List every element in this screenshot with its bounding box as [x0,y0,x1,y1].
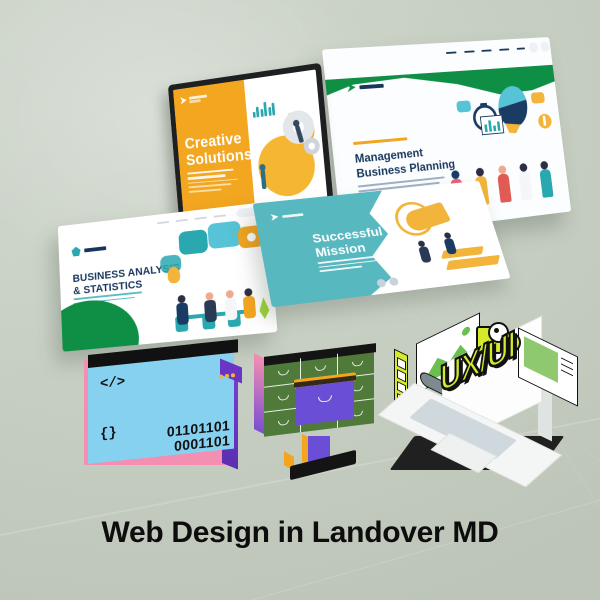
slide-logo [71,243,106,256]
promo-graphic: Management Business Planning [0,0,600,600]
code-brace-icon: {} [100,425,117,443]
uxui-laptop-illustration[interactable]: UX/UI [382,318,572,486]
person-figure [538,161,553,198]
nav-item[interactable] [446,51,457,54]
speech-bubble-icon [207,221,241,250]
nav-item[interactable] [213,214,226,217]
brand-logo [180,93,208,104]
successful-mission-slide[interactable]: Successful Mission [253,181,511,308]
coin-icon [538,113,553,129]
wireframe-line [561,369,573,376]
page-title: Web Design in Landover MD [0,516,600,550]
bar-chart-graphic [251,98,275,118]
nav-menu-icon[interactable] [540,42,550,52]
leaf-shape [258,297,270,320]
nav-item[interactable] [194,217,206,220]
chart-document-icon [480,115,504,136]
person-figure [203,292,217,323]
wireframe-block [524,336,558,383]
person-figure [223,290,237,321]
nav-search-icon[interactable] [529,42,539,52]
speech-bubble-icon [456,100,471,112]
code-window-screen: </> {} 01101101 0001101 [88,349,234,464]
screen-headline: Creative Solutions [184,129,253,169]
drawer-handle[interactable] [352,361,363,367]
screen-right-panel [244,69,328,214]
slide-card: BUSINESS ANALYSIS & STATISTICS [58,202,278,352]
nav-item[interactable] [464,50,475,53]
green-blob-graphic [58,296,141,352]
business-analysis-statistics-slide[interactable]: BUSINESS ANALYSIS & STATISTICS [58,202,278,352]
screen-left-panel: Creative Solutions [173,80,256,219]
code-window-illustration[interactable]: </> {} 01101101 0001101 [88,355,238,465]
slide-logo [347,81,384,92]
monitor-screen: Creative Solutions [173,69,328,219]
binary-text: 01101101 0001101 [167,418,230,455]
person-figure [517,163,532,201]
nav-item[interactable] [175,219,187,222]
drawer-handle[interactable] [315,365,326,371]
slide-illustration [152,216,274,341]
person-figure [416,240,431,263]
drawer-handle[interactable] [278,395,289,401]
screen-illustration [244,69,328,214]
person-figure [496,165,512,203]
nav-item[interactable] [156,221,168,224]
code-tag-icon: </> [100,374,125,393]
person-figure [242,288,256,319]
slide-card: Successful Mission [253,181,511,308]
slide-pagination-dots[interactable] [376,277,399,288]
nav-item[interactable] [482,49,492,52]
nav-item[interactable] [499,48,509,51]
nav-item[interactable] [516,47,525,49]
sun-icon [462,325,470,337]
speech-bubble-icon [179,229,209,255]
screen-subtext [187,168,240,195]
drawer-handle[interactable] [278,420,289,426]
person-figure [176,295,189,326]
open-drawer[interactable] [296,380,354,425]
slide-eyebrow [353,137,407,145]
drawer-handle[interactable] [278,370,289,376]
filing-cabinet-illustration[interactable] [250,348,386,478]
speech-bubble-icon [530,92,545,104]
